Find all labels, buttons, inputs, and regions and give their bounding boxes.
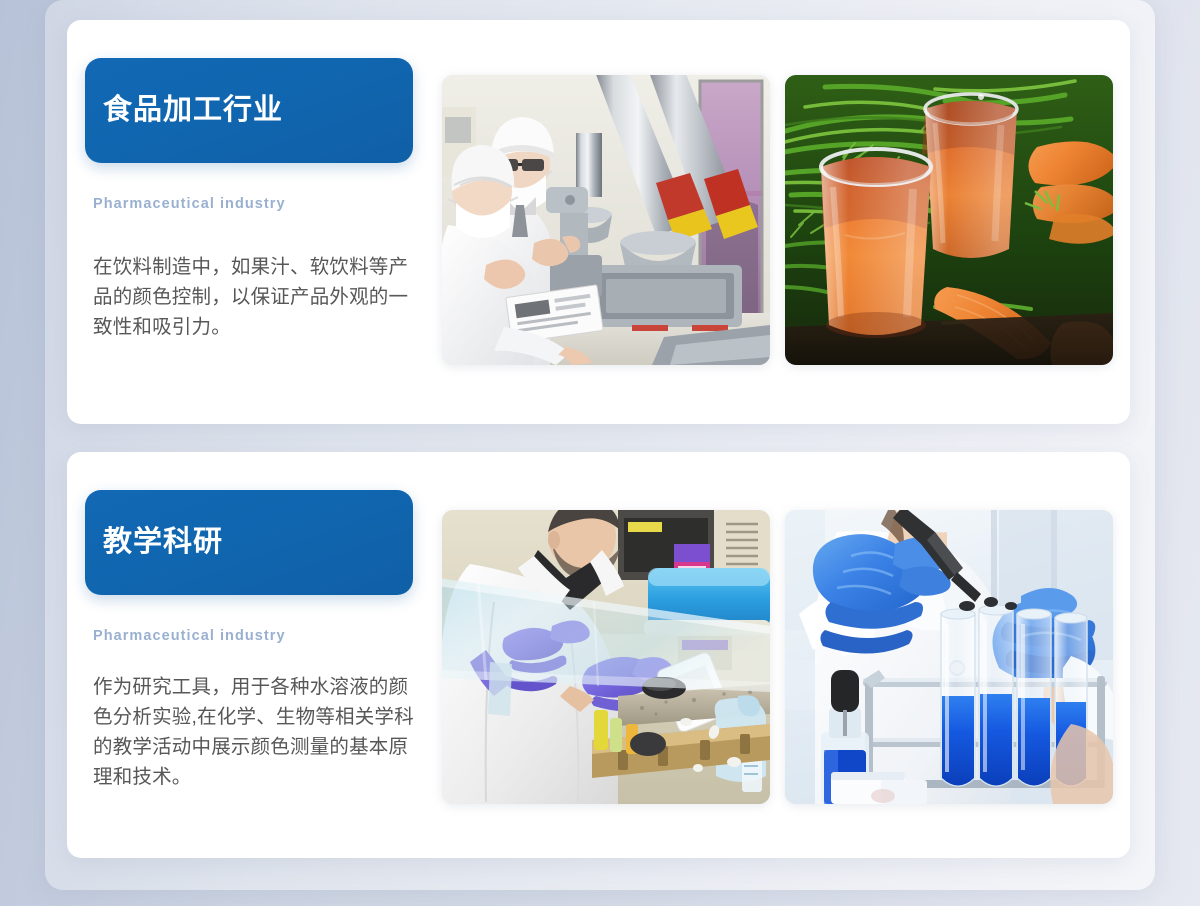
photo-carrot-juice [785, 75, 1113, 365]
application-card-teaching-research[interactable]: 教学科研 Pharmaceutical industry 作为研究工具，用于各种… [67, 452, 1130, 858]
card-title-badge: 食品加工行业 [85, 58, 413, 163]
card-title-label: 食品加工行业 [103, 95, 283, 127]
application-card-list: 食品加工行业 Pharmaceutical industry 在饮料制造中，如果… [67, 20, 1130, 858]
clean-room-illustration [442, 75, 770, 365]
carrot-juice-illustration [785, 75, 1113, 365]
card-text-column: 食品加工行业 Pharmaceutical industry 在饮料制造中，如果… [67, 20, 442, 362]
photo-test-tubes [785, 510, 1113, 804]
lab-scientist-illustration [442, 510, 770, 804]
application-card-food-processing[interactable]: 食品加工行业 Pharmaceutical industry 在饮料制造中，如果… [67, 20, 1130, 424]
test-tubes-illustration [785, 510, 1113, 804]
card-description: 作为研究工具，用于各种水溶液的颜色分析实验,在化学、生物等相关学科的教学活动中展… [93, 672, 423, 792]
card-title-badge: 教学科研 [85, 490, 413, 595]
photo-lab-scientist [442, 510, 770, 804]
card-photo-group [442, 20, 1130, 365]
card-title-label: 教学科研 [103, 527, 223, 559]
card-subtitle: Pharmaceutical industry [93, 196, 432, 212]
photo-clean-room-operators [442, 75, 770, 365]
page-background: 食品加工行业 Pharmaceutical industry 在饮料制造中，如果… [0, 0, 1200, 906]
card-text-column: 教学科研 Pharmaceutical industry 作为研究工具，用于各种… [67, 452, 442, 812]
card-description: 在饮料制造中，如果汁、软饮料等产品的颜色控制，以保证产品外观的一致性和吸引力。 [93, 252, 423, 342]
card-subtitle: Pharmaceutical industry [93, 628, 432, 644]
card-photo-group [442, 452, 1130, 804]
